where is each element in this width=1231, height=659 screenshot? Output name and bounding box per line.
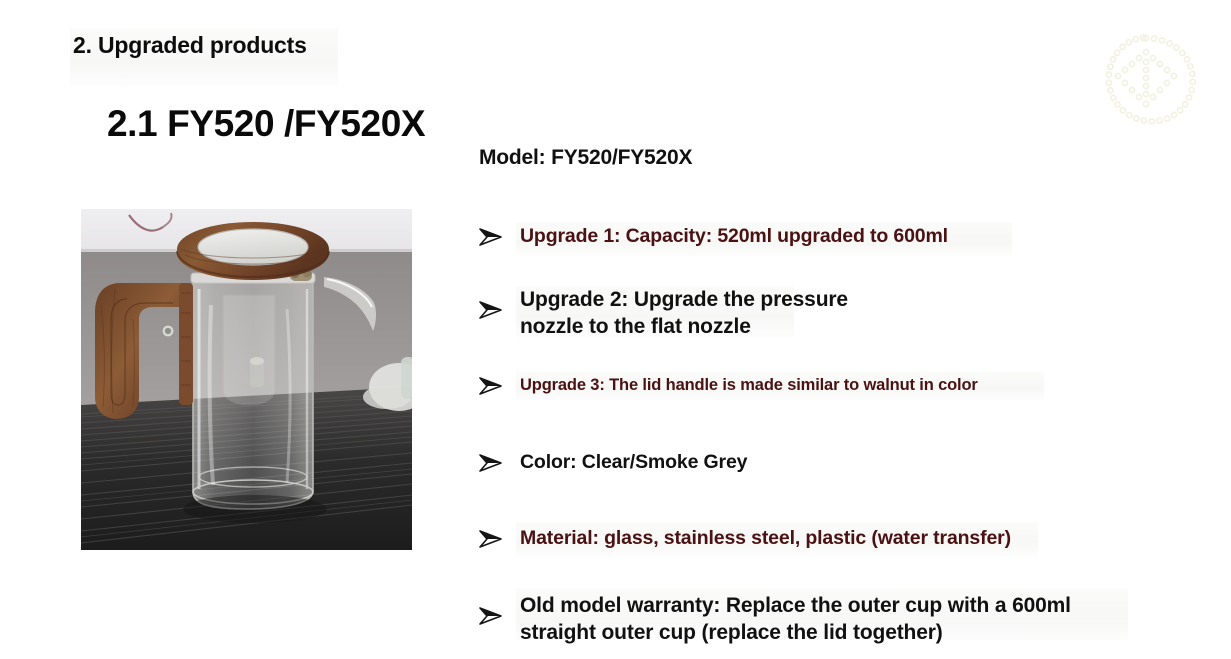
arrowhead-bullet-icon — [478, 529, 520, 549]
list-item: Material: glass, stainless steel, plasti… — [478, 526, 1011, 551]
list-item: Upgrade 2: Upgrade the pressure nozzle t… — [478, 286, 848, 341]
slide-canvas: 2. Upgraded products 2.1 FY520 /FY520X M… — [0, 0, 1231, 659]
arrowhead-bullet-icon — [478, 376, 520, 396]
product-photo — [81, 209, 412, 550]
arrowhead-bullet-icon — [478, 300, 520, 320]
list-item-label: Material: glass, stainless steel, plasti… — [520, 526, 1011, 551]
list-item: Old model warranty: Replace the outer cu… — [478, 592, 1071, 647]
list-item: Upgrade 3: The lid handle is made simila… — [478, 375, 978, 396]
list-item-label: Old model warranty: Replace the outer cu… — [520, 592, 1071, 647]
arrowhead-bullet-icon — [478, 453, 520, 473]
list-item: Upgrade 1: Capacity: 520ml upgraded to 6… — [478, 224, 948, 249]
list-item-label: Color: Clear/Smoke Grey — [520, 450, 747, 475]
list-item-label: Upgrade 3: The lid handle is made simila… — [520, 375, 978, 396]
section-heading: 2. Upgraded products — [73, 32, 307, 59]
arrowhead-bullet-icon — [478, 227, 520, 247]
list-item-label: Upgrade 2: Upgrade the pressure nozzle t… — [520, 286, 848, 341]
company-logo-watermark-icon — [1090, 28, 1202, 140]
model-label: Model: FY520/FY520X — [479, 146, 692, 170]
list-item: Color: Clear/Smoke Grey — [478, 450, 747, 475]
arrowhead-bullet-icon — [478, 606, 520, 626]
list-item-label: Upgrade 1: Capacity: 520ml upgraded to 6… — [520, 224, 948, 249]
subsection-heading: 2.1 FY520 /FY520X — [107, 103, 425, 145]
